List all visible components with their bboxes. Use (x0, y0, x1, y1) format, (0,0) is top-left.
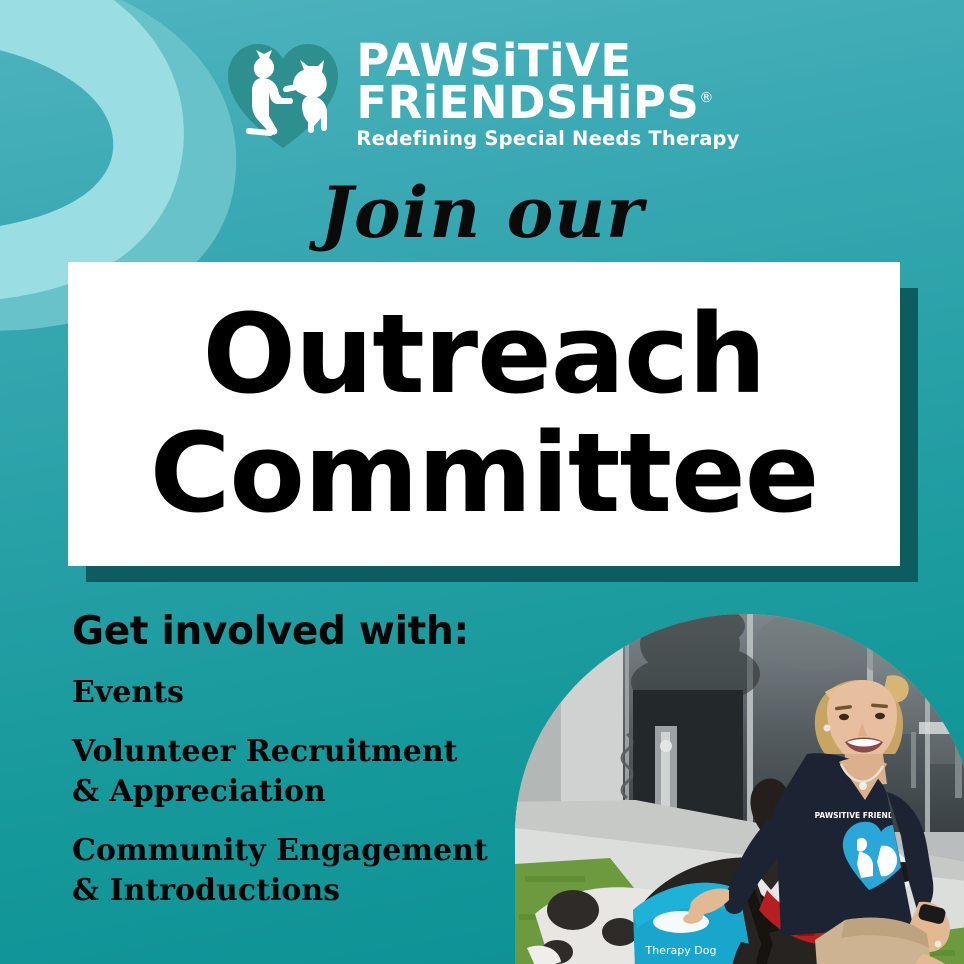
get-involved-list: Events Volunteer Recruitment & Appreciat… (72, 673, 542, 912)
eyebrow-text: Join our (0, 178, 964, 248)
headline-line-1: Outreach (202, 295, 765, 414)
headline-line-2: Committee (150, 414, 819, 533)
vest-label: Therapy Dog (645, 944, 717, 957)
logo-wordmark: PAWSiTiVE FRiENDSHiPS® Redefining Specia… (356, 40, 739, 150)
logo-word-friendships: FRiENDSHiPS® (356, 82, 713, 124)
heart-child-dog-icon (224, 36, 342, 154)
headline-card: Outreach Committee (68, 262, 900, 566)
get-involved-title: Get involved with: (72, 612, 542, 651)
get-involved-section: Get involved with: Events Volunteer Recr… (72, 612, 542, 930)
list-item: Community Engagement & Introductions (72, 831, 542, 912)
poster-canvas: PAWSiTiVE FRiENDSHiPS® Redefining Specia… (0, 0, 964, 964)
brand-logo: PAWSiTiVE FRiENDSHiPS® Redefining Specia… (0, 36, 964, 154)
registered-mark: ® (699, 90, 714, 106)
photo-woman-with-therapy-dog: Therapy Dog (515, 614, 964, 964)
list-item: Volunteer Recruitment & Appreciation (72, 732, 542, 813)
logo-tagline: Redefining Special Needs Therapy (356, 127, 739, 150)
list-item: Events (72, 673, 542, 714)
